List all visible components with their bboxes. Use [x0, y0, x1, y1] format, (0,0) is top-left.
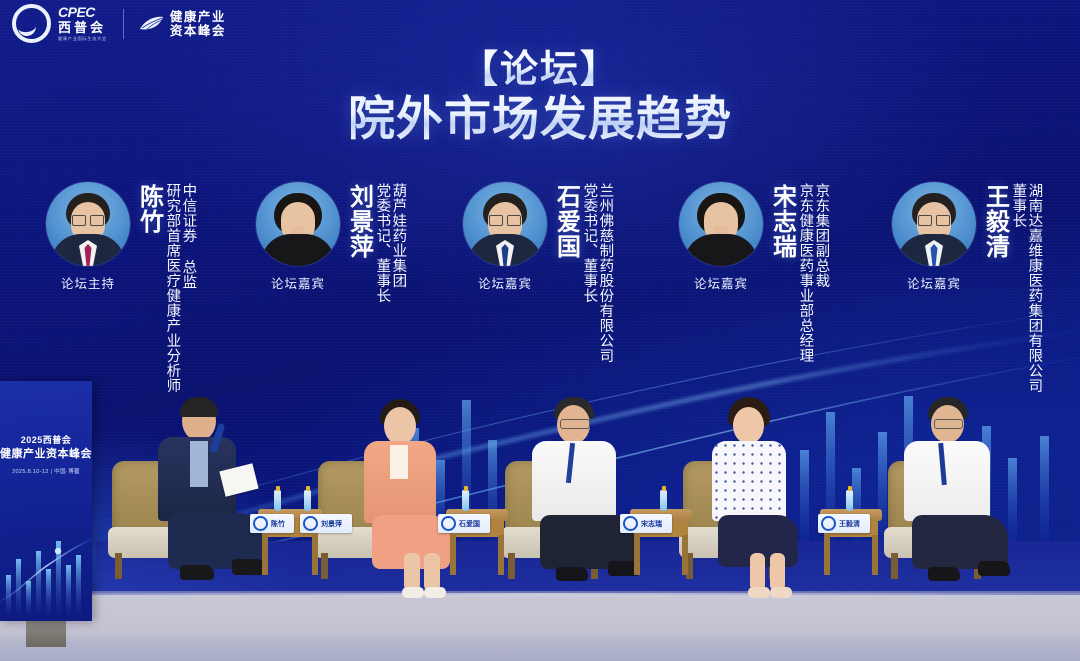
speaker-title-line: 兰州佛慈制药股份有限公司: [597, 183, 612, 363]
name-plate: 陈竹: [250, 514, 294, 533]
banner-stand: [26, 619, 66, 647]
name-plate-label: 王毅清: [839, 519, 860, 529]
summit-logo-line2: 资本峰会: [170, 24, 226, 38]
cpec-mark-icon: [253, 516, 268, 531]
banner-date: 2025.8.10-12 | 中国·博鳌: [0, 467, 92, 475]
forum-title-line2: 院外市场发展趋势: [0, 91, 1080, 146]
cpec-mark-icon: [623, 516, 638, 531]
speaker-name: 王毅清: [982, 184, 1006, 259]
speaker-title-line: 湖南达嘉维康医药集团有限公司: [1026, 183, 1041, 393]
name-plate-label: 陈竹: [271, 519, 285, 529]
speaker-title-line: 董事长: [1010, 183, 1025, 393]
speaker-avatar: [256, 182, 340, 266]
conference-stage-photo: CPEC 西普会 健康产业国际生态大会 健康产业 资本峰会 【论坛】 院外市场发…: [0, 0, 1080, 661]
header-logo-bar: CPEC 西普会 健康产业国际生态大会 健康产业 资本峰会: [12, 4, 226, 43]
cpec-logo-en: CPEC: [58, 5, 109, 19]
speaker-avatar: [679, 182, 763, 266]
speaker-role: 论坛嘉宾: [694, 273, 748, 292]
speaker-card-3: 论坛嘉宾 宋志瑞 京东集团副总裁 京东健康医药事业部总经理: [675, 182, 828, 363]
speaker-title-line: 中信证券 总监: [180, 183, 195, 393]
name-plate: 石爱国: [438, 514, 490, 533]
panelist-figure-moderator: [150, 401, 270, 601]
speaker-role: 论坛嘉宾: [478, 273, 532, 292]
speaker-title-line: 党委书记、董事长: [374, 183, 389, 303]
water-bottle: [660, 490, 667, 511]
speaker-card-0: 论坛主持 陈竹 中信证券 总监 研究部首席医疗健康产业分析师: [42, 182, 195, 393]
name-plate-label: 石爱国: [459, 519, 480, 529]
panelist-figure-5: [898, 403, 1018, 603]
speaker-role: 论坛主持: [61, 273, 115, 292]
speaker-title-line: 京东健康医药事业部总经理: [797, 183, 812, 363]
leaf-icon: [138, 16, 164, 32]
speaker-name: 宋志瑞: [769, 184, 793, 259]
speaker-avatar: [46, 182, 130, 266]
cpec-mark-icon: [303, 516, 318, 531]
name-plate: 王毅清: [818, 514, 870, 533]
forum-title-line1: 【论坛】: [0, 48, 1080, 93]
cpec-logo-subtitle: 健康产业国际生态大会: [58, 37, 107, 41]
name-plate-label: 刘景萍: [321, 519, 342, 529]
cpec-mark-icon: [441, 516, 456, 531]
speaker-name: 刘景萍: [346, 184, 370, 259]
banner-chart-graphic: [0, 511, 92, 621]
speaker-title-line: 京东集团副总裁: [813, 183, 828, 363]
cpec-ring-icon: [12, 4, 51, 43]
speaker-strip: 论坛主持 陈竹 中信证券 总监 研究部首席医疗健康产业分析师 论坛嘉宾 刘景萍 …: [0, 182, 1080, 432]
water-bottle: [462, 490, 469, 511]
banner-line2: 健康产业资本峰会: [0, 445, 92, 461]
name-plate: 宋志瑞: [620, 514, 672, 533]
speaker-name: 石爱国: [553, 184, 577, 259]
speaker-avatar: [892, 182, 976, 266]
speaker-title-line: 研究部首席医疗健康产业分析师: [164, 183, 179, 393]
water-bottle: [304, 490, 311, 511]
water-bottle: [274, 490, 281, 511]
cpec-logo-cn: 西普会: [58, 21, 109, 34]
speaker-card-4: 论坛嘉宾 王毅清 湖南达嘉维康医药集团有限公司 董事长: [888, 182, 1041, 393]
panelist-figure-4: [700, 403, 810, 603]
stage-floor: [0, 595, 1080, 661]
name-plate-label: 宋志瑞: [641, 519, 662, 529]
rollup-banner: 2025西普会 健康产业资本峰会 2025.8.10-12 | 中国·博鳌: [0, 381, 92, 621]
speaker-role: 论坛嘉宾: [907, 273, 961, 292]
summit-logo-line1: 健康产业: [170, 10, 226, 24]
speaker-avatar: [463, 182, 547, 266]
panelist-figure-3: [524, 403, 644, 603]
cpec-logo: CPEC 西普会 健康产业国际生态大会: [12, 4, 109, 43]
speaker-card-2: 论坛嘉宾 石爱国 兰州佛慈制药股份有限公司 党委书记、董事长: [459, 182, 612, 363]
speaker-title-line: 葫芦娃药业集团: [390, 183, 405, 303]
health-capital-summit-logo: 健康产业 资本峰会: [138, 10, 226, 38]
cpec-mark-icon: [821, 516, 836, 531]
logo-divider: [123, 9, 124, 39]
water-bottle: [846, 490, 853, 511]
speaker-title-line: 党委书记、董事长: [581, 183, 596, 363]
speaker-role: 论坛嘉宾: [271, 273, 325, 292]
speaker-name: 陈竹: [136, 184, 160, 234]
forum-title-block: 【论坛】 院外市场发展趋势: [0, 48, 1080, 146]
name-plate: 刘景萍: [300, 514, 352, 533]
speaker-card-1: 论坛嘉宾 刘景萍 葫芦娃药业集团 党委书记、董事长: [252, 182, 405, 303]
